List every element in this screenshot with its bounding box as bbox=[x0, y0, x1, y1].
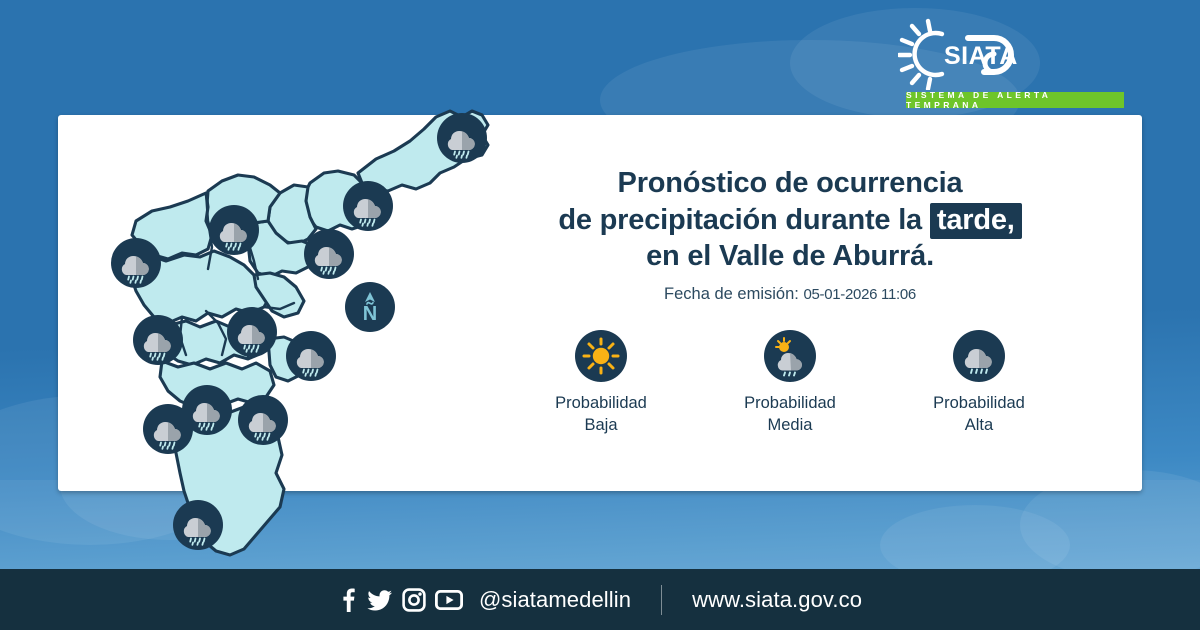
instagram-icon[interactable] bbox=[402, 588, 426, 612]
map-marker-4[interactable] bbox=[303, 228, 355, 280]
probability-legend: Probabilidad Baja bbox=[490, 330, 1090, 440]
map-marker-10[interactable] bbox=[237, 394, 289, 446]
social-handle[interactable]: @siatamedellin bbox=[479, 587, 631, 613]
footer-divider bbox=[661, 585, 662, 615]
headline-line-2: de precipitación durante la tarde, bbox=[490, 202, 1090, 239]
emission-date-value: 05-01-2026 11:06 bbox=[803, 286, 916, 303]
map-marker-11[interactable] bbox=[142, 403, 194, 455]
map-marker-2[interactable] bbox=[342, 180, 394, 232]
legend-baja-line2: Baja bbox=[584, 416, 617, 434]
sun-cloud-rain-icon bbox=[764, 330, 816, 382]
legend-item-alta: Probabilidad Alta bbox=[894, 330, 1064, 440]
cloud-rain-icon bbox=[953, 330, 1005, 382]
headline-line-2-text: de precipitación durante la bbox=[558, 204, 930, 236]
compass-rose: Ñ bbox=[344, 281, 396, 333]
headline-line-1: Pronóstico de ocurrencia bbox=[490, 165, 1090, 202]
legend-item-baja: Probabilidad Baja bbox=[516, 330, 686, 440]
siata-logo-text: SIATA bbox=[944, 42, 1018, 70]
emission-date: Fecha de emisión: 05-01-2026 11:06 bbox=[490, 285, 1090, 304]
headline-line-3: en el Valle de Aburrá. bbox=[490, 238, 1090, 275]
map-marker-12[interactable] bbox=[172, 499, 224, 551]
legend-label-baja: Probabilidad Baja bbox=[555, 392, 647, 437]
siata-logo: SIATA bbox=[898, 18, 1028, 90]
svg-text:Ñ: Ñ bbox=[363, 302, 377, 325]
twitter-icon[interactable] bbox=[367, 587, 393, 613]
youtube-icon[interactable] bbox=[435, 589, 463, 611]
infographic-canvas: SIATA METROPOLITANA Valle de Aburrá SIST… bbox=[0, 0, 1200, 630]
map-marker-1[interactable] bbox=[436, 112, 488, 164]
social-icons bbox=[338, 587, 463, 613]
headline-highlight-tarde: tarde, bbox=[930, 203, 1022, 239]
map-marker-5[interactable] bbox=[110, 237, 162, 289]
legend-item-media: Probabilidad Media bbox=[705, 330, 875, 440]
legend-media-line1: Probabilidad bbox=[744, 394, 836, 412]
page-title: Pronóstico de ocurrencia de precipitació… bbox=[490, 165, 1090, 275]
footer-bar: @siatamedellin www.siata.gov.co bbox=[0, 569, 1200, 630]
map-marker-6[interactable] bbox=[226, 306, 278, 358]
legend-label-alta: Probabilidad Alta bbox=[933, 392, 1025, 437]
emission-date-label: Fecha de emisión: bbox=[664, 285, 799, 303]
footer-inner: @siatamedellin www.siata.gov.co bbox=[338, 585, 862, 615]
valle-de-aburra-map: Ñ bbox=[58, 115, 528, 585]
website-url[interactable]: www.siata.gov.co bbox=[692, 587, 862, 613]
map-marker-3[interactable] bbox=[208, 204, 260, 256]
facebook-icon[interactable] bbox=[338, 587, 358, 613]
tagline-bar: SISTEMA DE ALERTA TEMPRANA bbox=[906, 92, 1124, 108]
legend-alta-line2: Alta bbox=[965, 416, 993, 434]
legend-media-line2: Media bbox=[768, 416, 813, 434]
legend-alta-line1: Probabilidad bbox=[933, 394, 1025, 412]
legend-label-media: Probabilidad Media bbox=[744, 392, 836, 437]
map-marker-7[interactable] bbox=[132, 314, 184, 366]
legend-baja-line1: Probabilidad bbox=[555, 394, 647, 412]
sun-icon bbox=[575, 330, 627, 382]
map-marker-8[interactable] bbox=[285, 330, 337, 382]
